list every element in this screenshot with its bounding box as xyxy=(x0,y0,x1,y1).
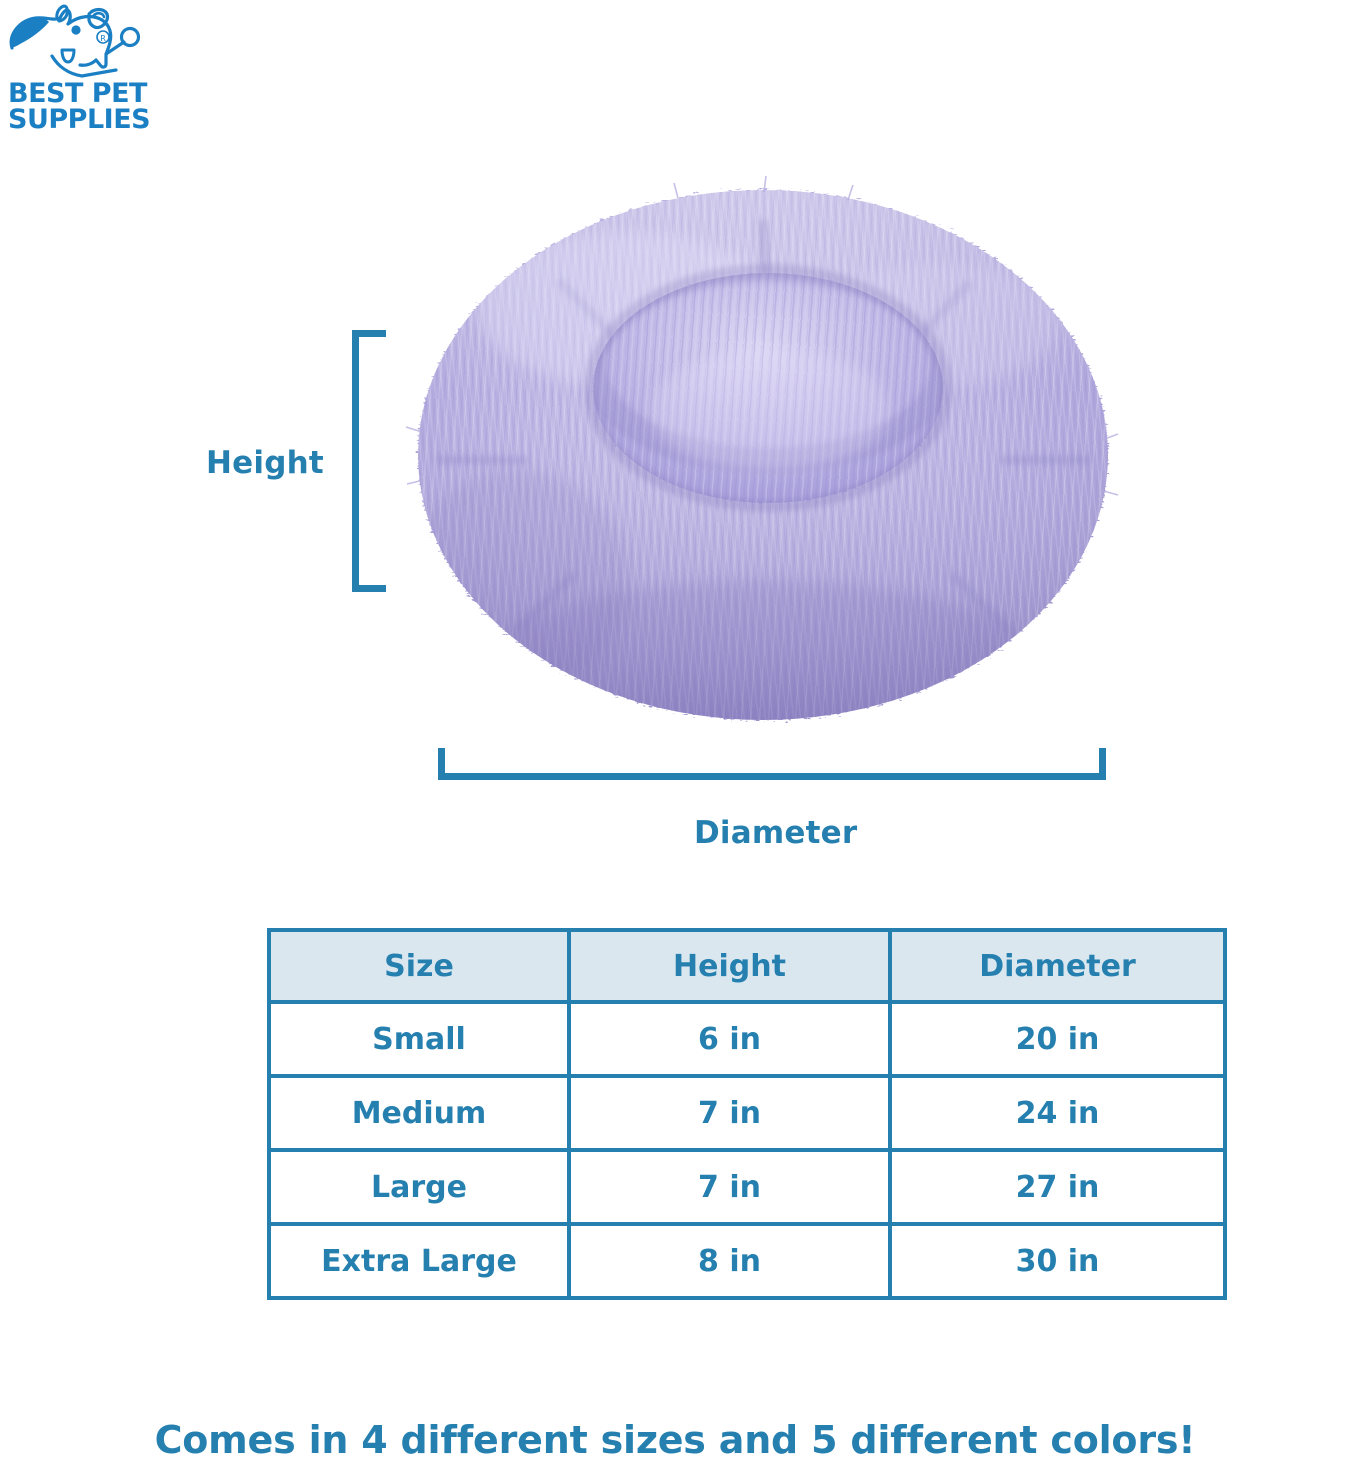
cell-height: 7 in xyxy=(569,1150,890,1224)
height-bracket-spine xyxy=(352,330,359,592)
cell-diameter: 20 in xyxy=(890,1002,1225,1076)
table-row: Extra Large 8 in 30 in xyxy=(269,1224,1225,1298)
diameter-dimension-label: Diameter xyxy=(694,815,857,851)
logo-text-line2: SUPPLIES xyxy=(8,104,150,129)
pet-bed-illustration xyxy=(378,160,1148,740)
cell-height: 8 in xyxy=(569,1224,890,1298)
cell-height: 6 in xyxy=(569,1002,890,1076)
table-row: Small 6 in 20 in xyxy=(269,1002,1225,1076)
cell-size: Large xyxy=(269,1150,569,1224)
cell-diameter: 24 in xyxy=(890,1076,1225,1150)
infographic-page: R BEST PET SUPPLIES xyxy=(0,0,1350,1475)
product-image-pet-bed xyxy=(378,160,1148,740)
diameter-bracket xyxy=(438,748,1106,780)
brand-logo: R BEST PET SUPPLIES xyxy=(6,4,166,129)
cell-size: Extra Large xyxy=(269,1224,569,1298)
height-dimension-label: Height xyxy=(206,445,324,481)
column-header-size: Size xyxy=(269,930,569,1002)
size-chart-table: Size Height Diameter Small 6 in 20 in Me… xyxy=(267,928,1227,1300)
table-row: Large 7 in 27 in xyxy=(269,1150,1225,1224)
diameter-bracket-cap-right xyxy=(1099,748,1106,780)
column-header-diameter: Diameter xyxy=(890,930,1225,1002)
bottom-tagline: Comes in 4 different sizes and 5 differe… xyxy=(0,1418,1350,1462)
column-header-height: Height xyxy=(569,930,890,1002)
table-header-row: Size Height Diameter xyxy=(269,930,1225,1002)
diameter-bracket-spine xyxy=(438,773,1106,780)
height-bracket xyxy=(352,330,386,592)
cell-height: 7 in xyxy=(569,1076,890,1150)
registered-mark: R xyxy=(100,34,106,43)
cell-size: Medium xyxy=(269,1076,569,1150)
cell-diameter: 30 in xyxy=(890,1224,1225,1298)
table-row: Medium 7 in 24 in xyxy=(269,1076,1225,1150)
cell-diameter: 27 in xyxy=(890,1150,1225,1224)
dog-logo-icon: R BEST PET SUPPLIES xyxy=(6,4,166,129)
height-bracket-cap-bottom xyxy=(352,585,386,592)
cell-size: Small xyxy=(269,1002,569,1076)
